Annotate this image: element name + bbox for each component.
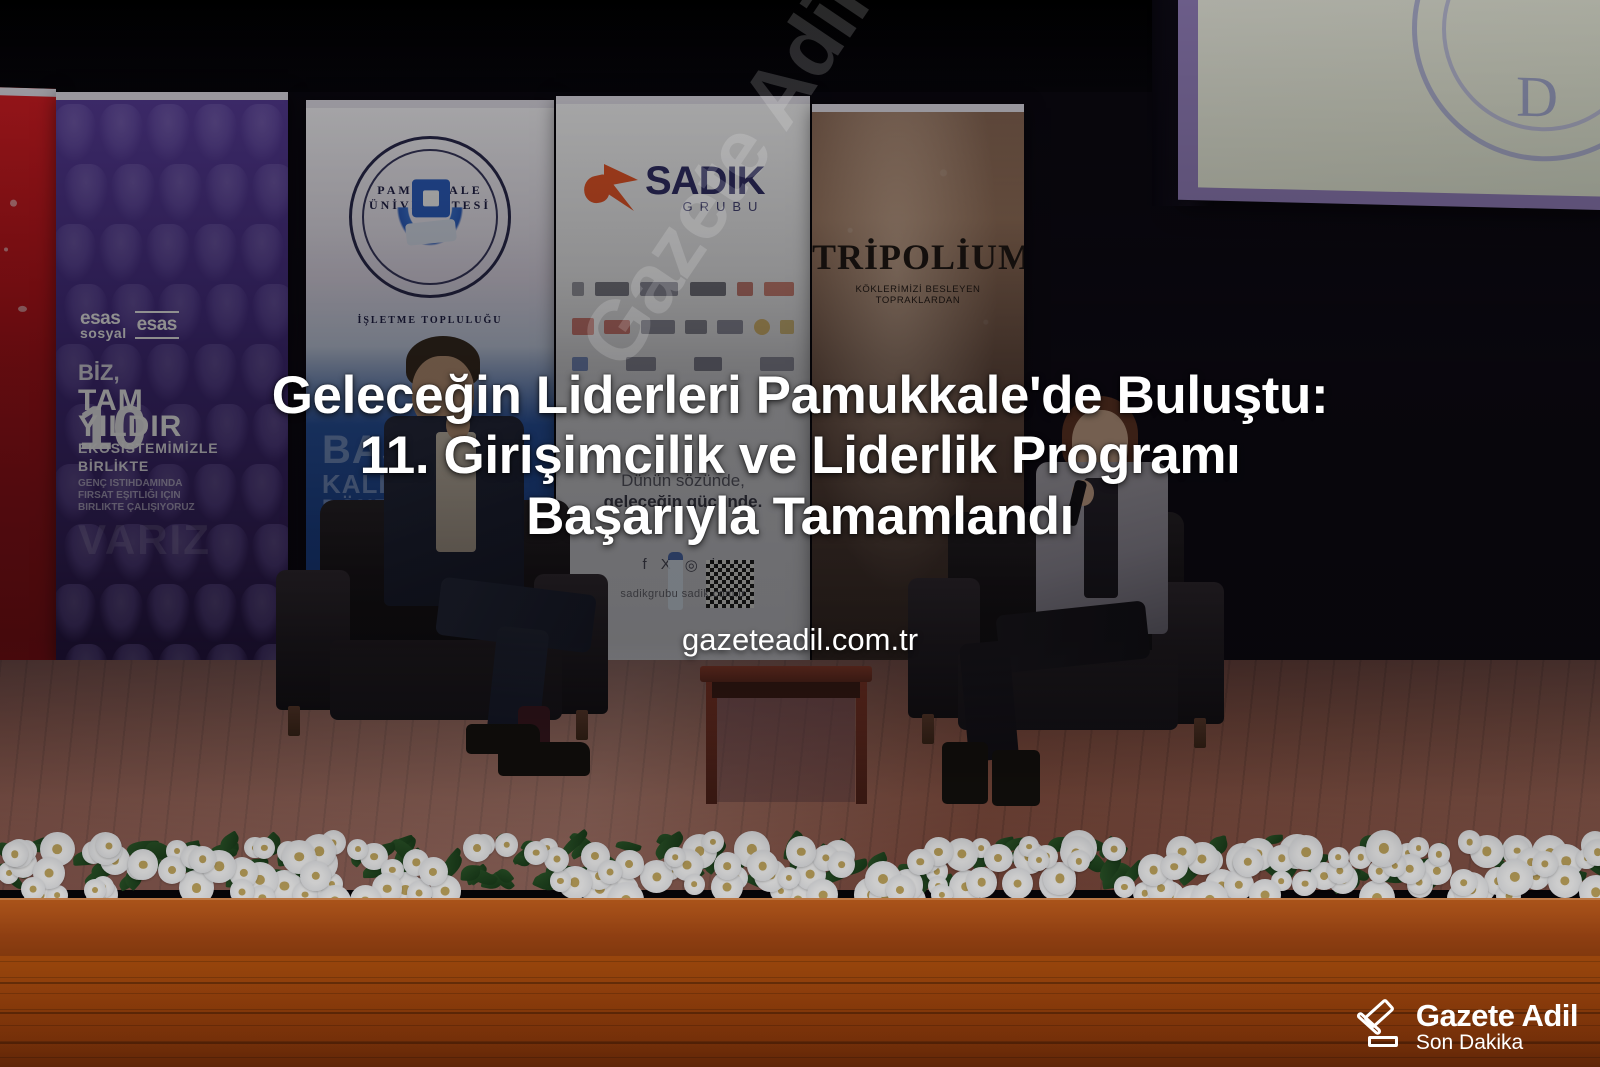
brand-logo[interactable]: Gazete Adil Son Dakika [1352,1000,1578,1053]
brand-name: Gazete Adil [1416,1000,1578,1032]
screenshot-root: D esas sosyal esas BİZ, TAM 10 YILDIR [0,0,1600,1067]
headline-line-3: Başarıyla Tamamlandı [0,487,1600,547]
gavel-block [1368,1036,1398,1047]
headline-line-2: 11. Girişimcilik ve Liderlik Programı [0,426,1600,486]
site-url-watermark: gazeteadil.com.tr [0,622,1600,658]
brand-tagline: Son Dakika [1416,1032,1578,1053]
gavel-icon [1352,1000,1404,1052]
page-title: Geleceğin Liderleri Pamukkale'de Buluştu… [0,366,1600,547]
headline-line-1: Geleceğin Liderleri Pamukkale'de Buluştu… [0,366,1600,426]
brand-text: Gazete Adil Son Dakika [1416,1000,1578,1053]
